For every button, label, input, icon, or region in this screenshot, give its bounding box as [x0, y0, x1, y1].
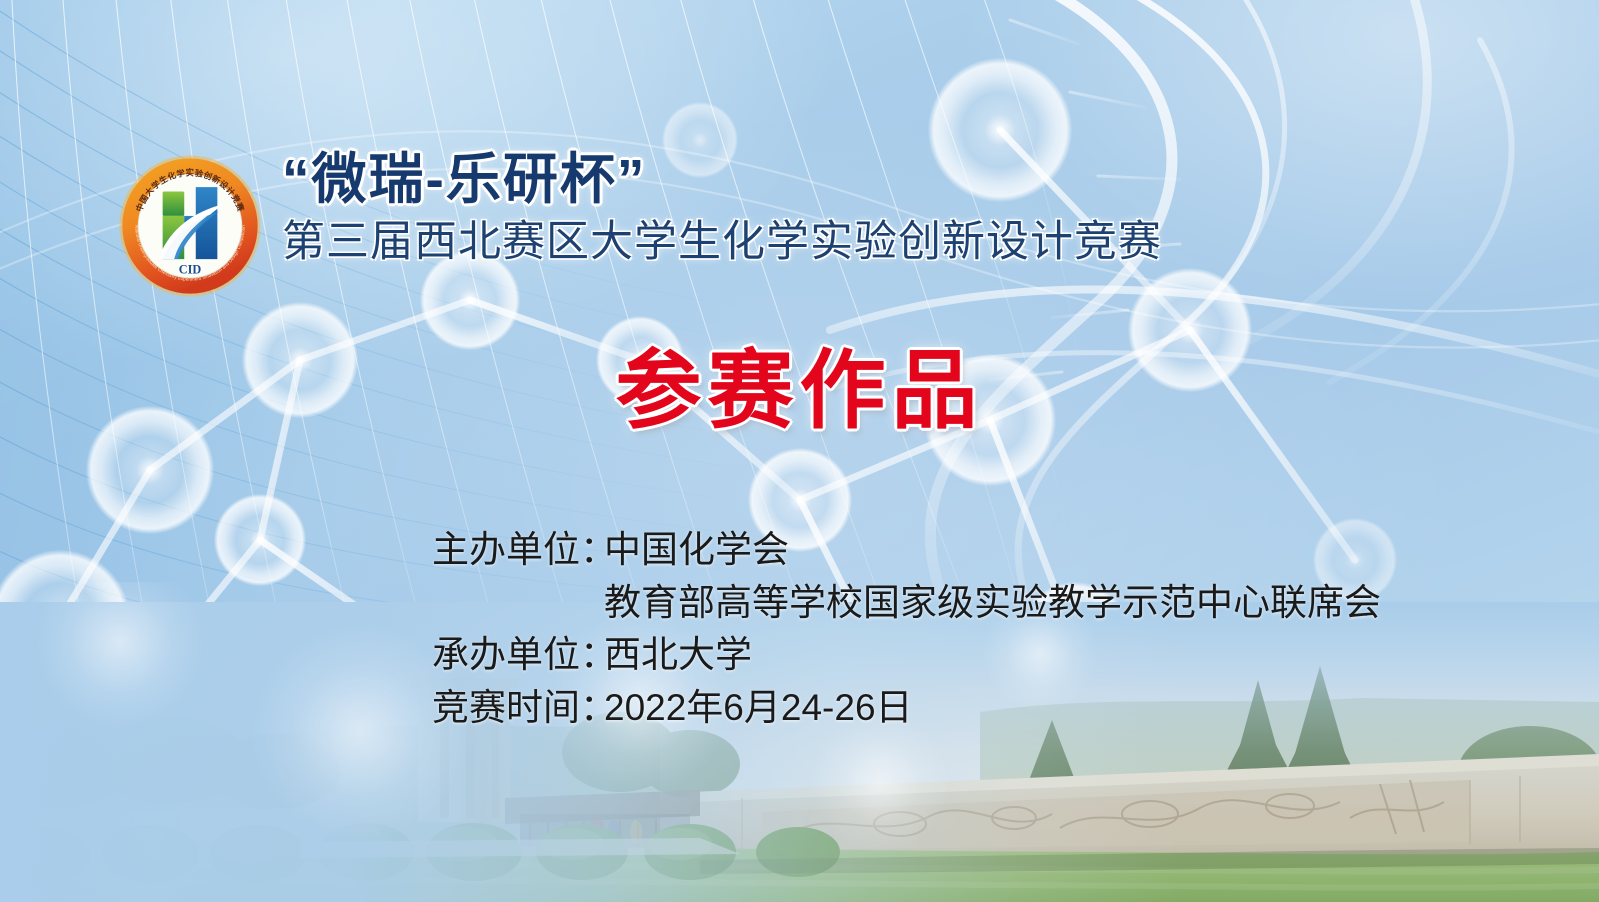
info-value: 2022年6月24-26日 [604, 682, 913, 735]
info-value: 西北大学 [604, 629, 752, 682]
info-values: 西北大学 [604, 629, 752, 682]
logo-abbreviation: CID [179, 263, 202, 277]
title-block: “微瑞-乐研杯” 第三届西北赛区大学生化学实验创新设计竞赛 [282, 146, 1162, 269]
info-label: 承办单位： [432, 629, 604, 682]
competition-cup-title: “微瑞-乐研杯” [282, 148, 1162, 211]
info-values: 中国化学会 教育部高等学校国家级实验教学示范中心联席会 [604, 524, 1381, 629]
headline-text: 参赛作品 [616, 348, 984, 434]
info-label: 竞赛时间： [432, 682, 604, 735]
slide-canvas: 中国大学生化学实验创新设计竞赛 National Undergraduate C… [0, 0, 1599, 902]
info-values: 2022年6月24-26日 [604, 682, 913, 735]
competition-logo: 中国大学生化学实验创新设计竞赛 National Undergraduate C… [118, 154, 262, 298]
info-row-organizer: 主办单位： 中国化学会 教育部高等学校国家级实验教学示范中心联席会 [432, 524, 1381, 629]
info-label: 主办单位： [432, 524, 604, 577]
info-value: 教育部高等学校国家级实验教学示范中心联席会 [604, 577, 1381, 630]
info-value: 中国化学会 [604, 524, 1381, 577]
info-row-date: 竞赛时间： 2022年6月24-26日 [432, 682, 1381, 735]
headline-area: 参赛作品 [0, 348, 1599, 434]
competition-subtitle: 第三届西北赛区大学生化学实验创新设计竞赛 [282, 217, 1162, 269]
event-info-block: 主办单位： 中国化学会 教育部高等学校国家级实验教学示范中心联席会 承办单位： … [432, 524, 1381, 734]
slide-header: 中国大学生化学实验创新设计竞赛 National Undergraduate C… [118, 146, 1162, 298]
info-row-host: 承办单位： 西北大学 [432, 629, 1381, 682]
